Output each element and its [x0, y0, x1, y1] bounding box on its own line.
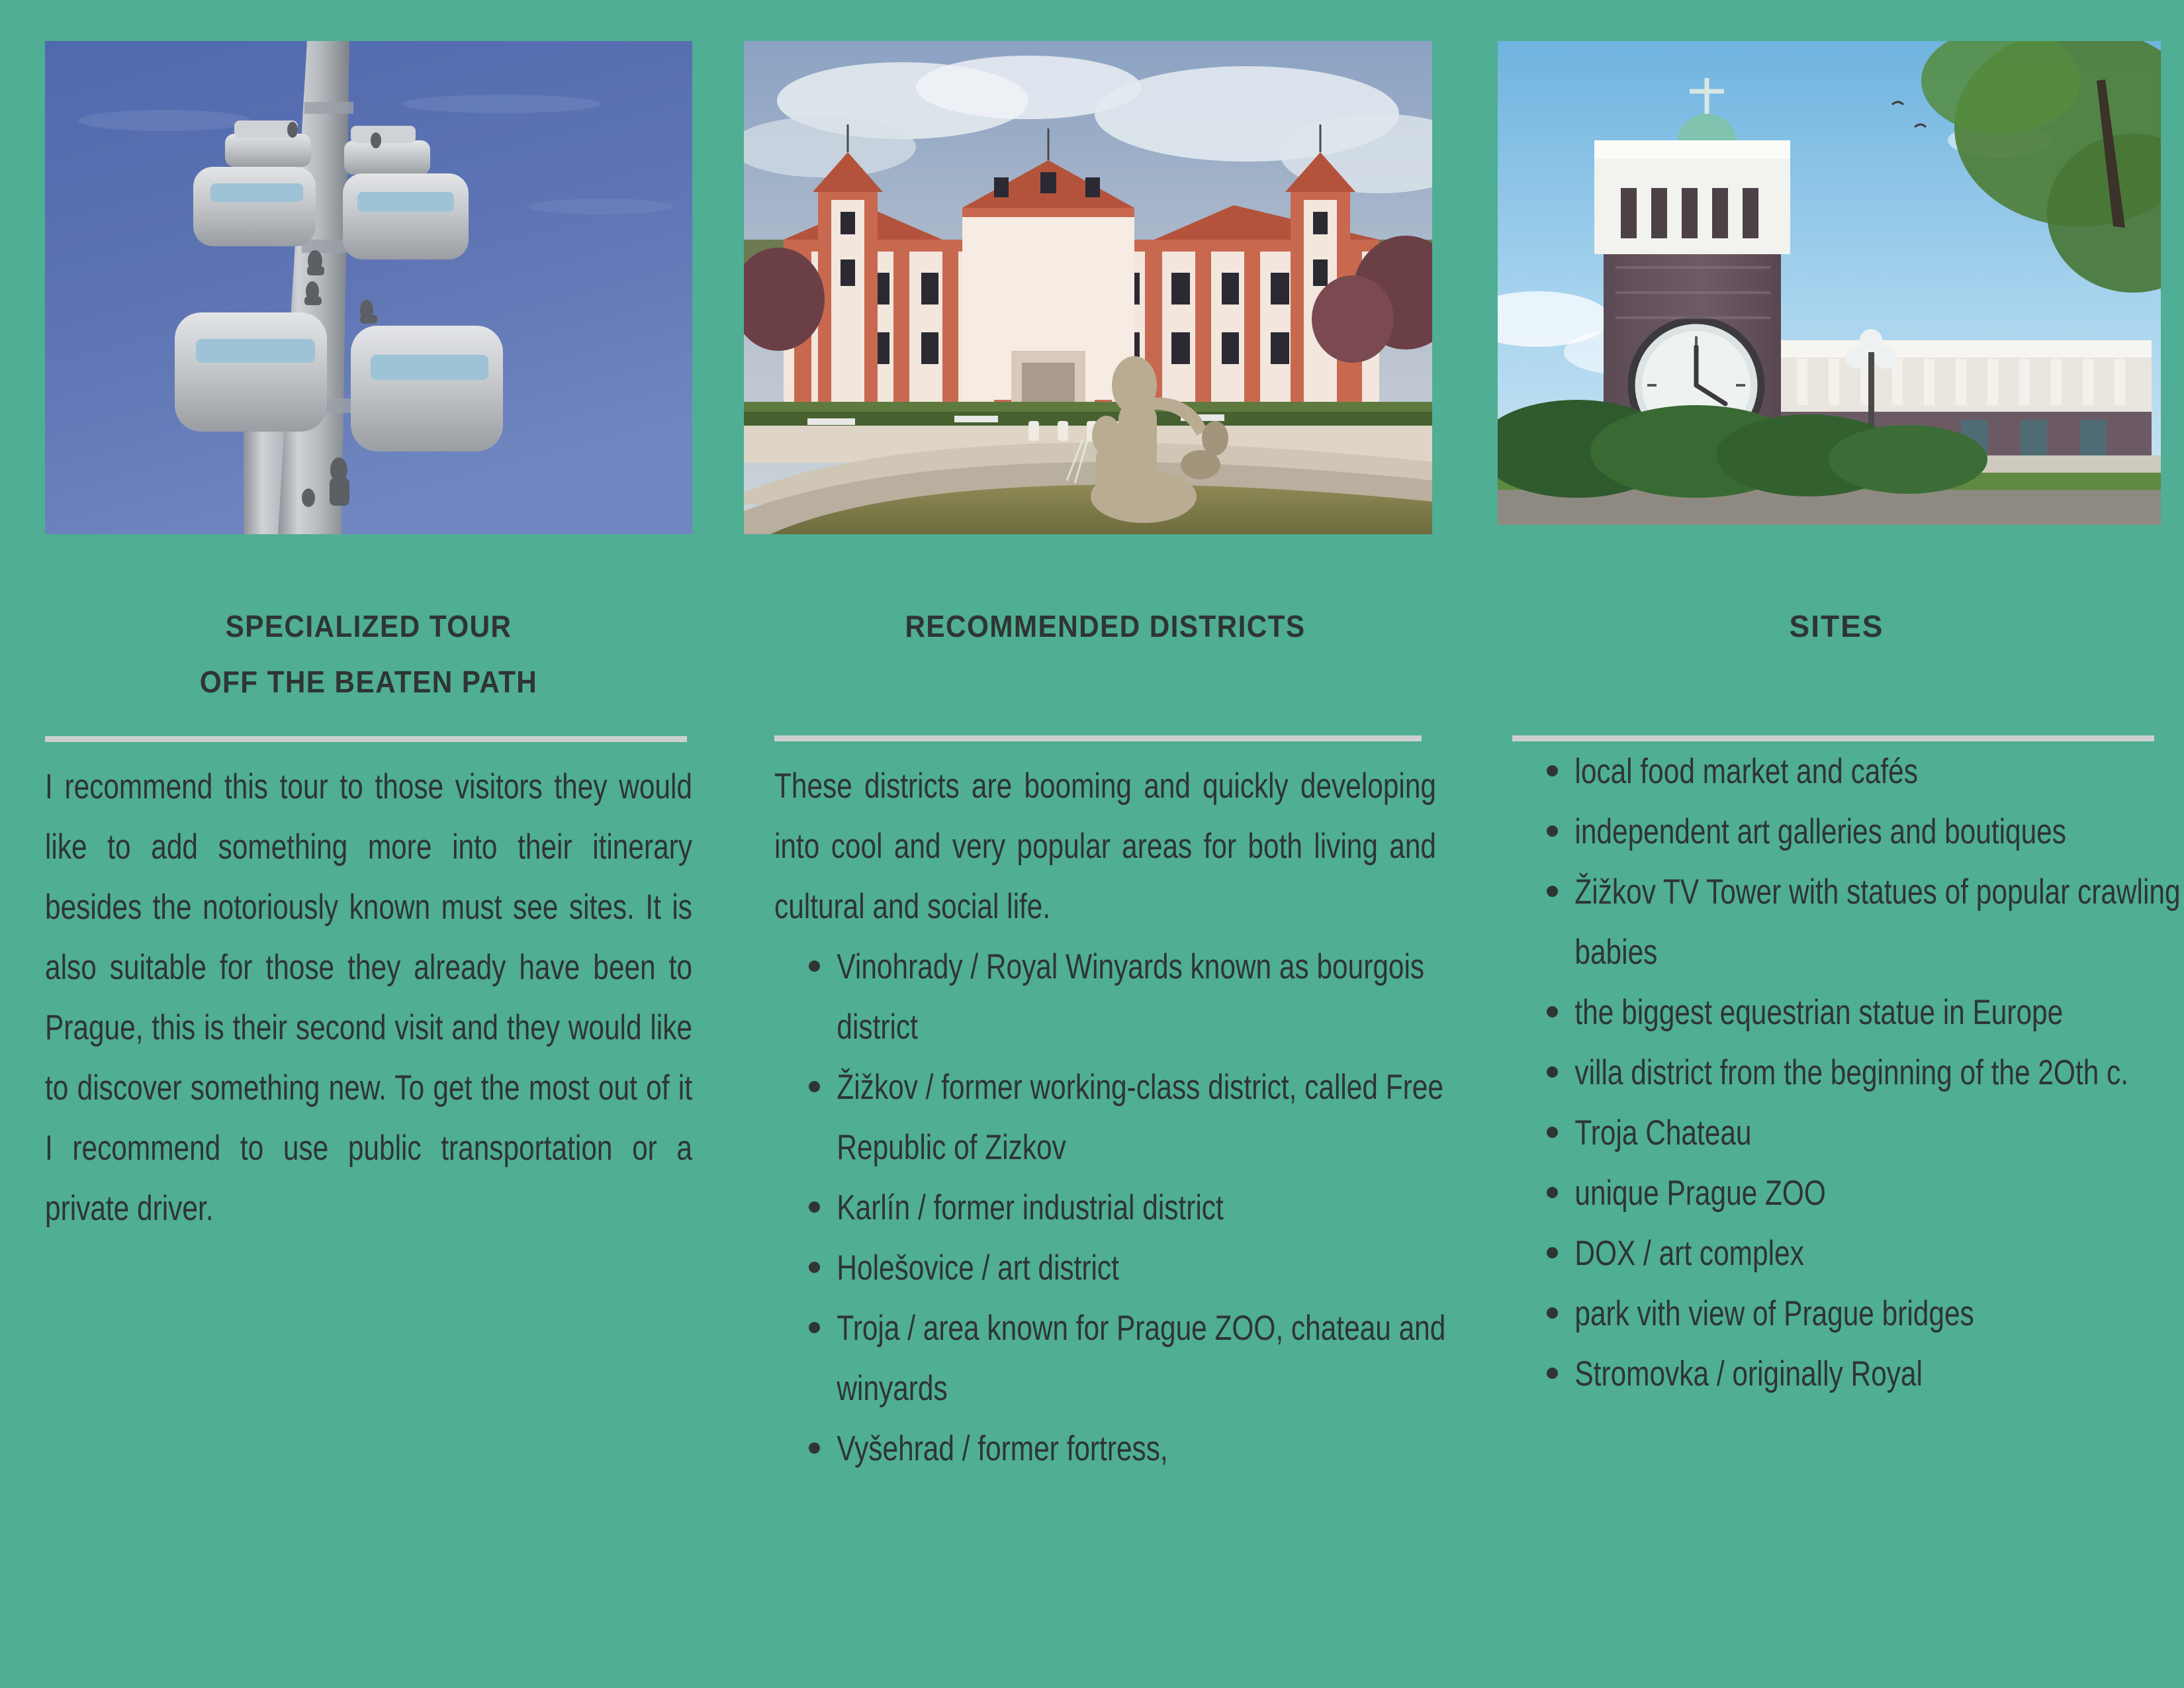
list-item: villa district from the beginning of the…	[1512, 1043, 2161, 1103]
list-item-label: Žižkov / former working-class district, …	[774, 1057, 1498, 1178]
list-item: Žižkov / former working-class district, …	[774, 1057, 1436, 1178]
page-title-line-1: SPECIALIZED TOUR	[71, 598, 666, 654]
list-item-label: local food market and cafés	[1512, 741, 2184, 802]
list-item-label: Stromovka / originally Royal	[1512, 1344, 2184, 1404]
list-item-label: DOX / art complex	[1512, 1223, 2184, 1284]
brochure-page: SPECIALIZED TOUR OFF THE BEATEN PATH I r…	[0, 0, 2184, 1688]
list-item-label: independent art galleries and boutiques	[1512, 802, 2184, 862]
list-item: local food market and cafés	[1512, 741, 2161, 802]
column-3-heading-block: SITES	[1512, 583, 2161, 654]
list-item-label: Žižkov TV Tower with statues of popular …	[1512, 862, 2184, 982]
columns-row: SPECIALIZED TOUR OFF THE BEATEN PATH I r…	[0, 583, 2184, 1688]
column-2-paragraph: These districts are booming and quickly …	[774, 741, 1436, 937]
list-item-label: unique Prague ZOO	[1512, 1163, 2184, 1223]
sites-list: local food market and cafés independent …	[1512, 741, 2161, 1404]
column-1-paragraph: I recommend this tour to those visitors …	[45, 742, 692, 1239]
column-3-title: SITES	[1512, 598, 2161, 654]
list-item: Karlín / former industrial district	[774, 1178, 1436, 1238]
list-item: Holešovice / art district	[774, 1238, 1436, 1298]
column-sites: SITES local food market and cafés indepe…	[1512, 583, 2161, 1688]
list-item-label: Holešovice / art district	[774, 1238, 1498, 1298]
column-1-heading-block: SPECIALIZED TOUR OFF THE BEATEN PATH	[45, 583, 692, 710]
troja-chateau-photo	[744, 41, 1432, 534]
list-item-label: Vyšehrad / former fortress,	[774, 1419, 1498, 1479]
column-2-title: RECOMMENDED DISTRICTS	[801, 598, 1410, 654]
vinohrady-church-photo	[1498, 41, 2161, 525]
page-title-line-2: OFF THE BEATEN PATH	[71, 654, 666, 710]
districts-list: Vinohrady / Royal Winyards known as bour…	[774, 937, 1436, 1479]
column-3-divider	[1512, 735, 2154, 741]
list-item: Žižkov TV Tower with statues of popular …	[1512, 862, 2161, 982]
list-item-label: Troja Chateau	[1512, 1103, 2184, 1163]
list-item-label: Vinohrady / Royal Winyards known as bour…	[774, 937, 1498, 1057]
list-item: park vith view of Prague bridges	[1512, 1284, 2161, 1344]
list-item-label: park vith view of Prague bridges	[1512, 1284, 2184, 1344]
photo-row	[0, 41, 2184, 544]
column-1-divider	[45, 736, 687, 742]
column-specialized-tour: SPECIALIZED TOUR OFF THE BEATEN PATH I r…	[45, 583, 692, 1688]
list-item: the biggest equestrian statue in Europe	[1512, 982, 2161, 1043]
list-item-label: the biggest equestrian statue in Europe	[1512, 982, 2184, 1043]
list-item: DOX / art complex	[1512, 1223, 2161, 1284]
column-recommended-districts: RECOMMENDED DISTRICTS These districts ar…	[774, 583, 1436, 1688]
zizkov-tv-tower-photo	[45, 41, 692, 534]
list-item: Troja / area known for Prague ZOO, chate…	[774, 1298, 1436, 1419]
list-item: Troja Chateau	[1512, 1103, 2161, 1163]
list-item-label: Troja / area known for Prague ZOO, chate…	[774, 1298, 1498, 1419]
column-2-divider	[774, 735, 1422, 741]
list-item: unique Prague ZOO	[1512, 1163, 2161, 1223]
list-item: Vinohrady / Royal Winyards known as bour…	[774, 937, 1436, 1057]
column-2-heading-block: RECOMMENDED DISTRICTS	[774, 583, 1436, 654]
list-item-label: Karlín / former industrial district	[774, 1178, 1498, 1238]
list-item: independent art galleries and boutiques	[1512, 802, 2161, 862]
list-item: Stromovka / originally Royal	[1512, 1344, 2161, 1404]
list-item-label: villa district from the beginning of the…	[1512, 1043, 2184, 1103]
list-item: Vyšehrad / former fortress,	[774, 1419, 1436, 1479]
